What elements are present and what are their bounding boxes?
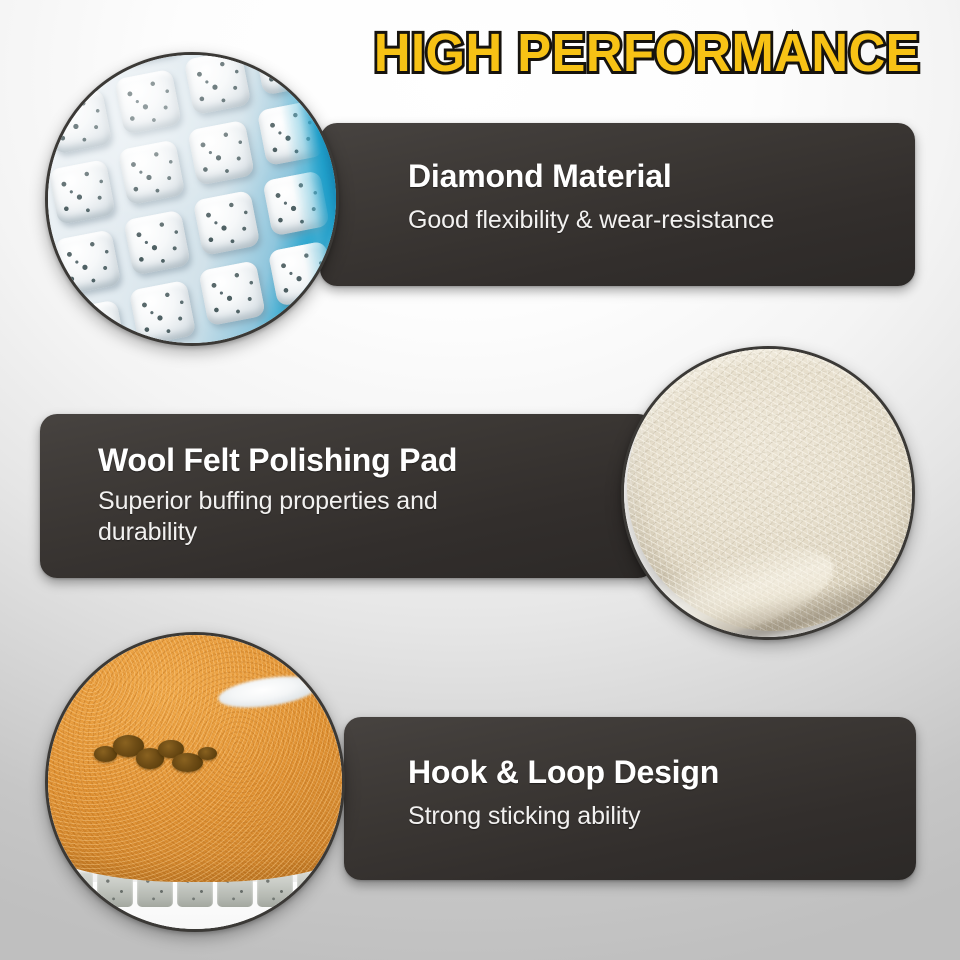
feature-subtitle: Good flexibility & wear-resistance: [408, 205, 878, 236]
hook-loop-velcro-backing-photo: [45, 632, 345, 932]
page-title: HIGH PERFORMANCE: [374, 25, 920, 81]
headline-banner: HIGH PERFORMANCE: [410, 18, 920, 88]
product-feature-infographic: HIGH PERFORMANCE Diamond Material Good f…: [0, 0, 960, 960]
card-content: Diamond Material Good flexibility & wear…: [320, 123, 915, 286]
velcro-hook-cluster: [91, 732, 232, 773]
feature-subtitle: Strong sticking ability: [408, 801, 838, 832]
photo-sheen: [48, 55, 336, 343]
feature-card-wool-felt-polishing-pad: Wool Felt Polishing Pad Superior buffing…: [40, 414, 655, 578]
photo-surface: [48, 55, 336, 343]
wool-felt-disc-photo: [621, 346, 915, 640]
card-content: Wool Felt Polishing Pad Superior buffing…: [40, 414, 655, 578]
feature-title: Hook & Loop Design: [408, 755, 719, 789]
feature-card-hook-and-loop-design: Hook & Loop Design Strong sticking abili…: [344, 717, 916, 880]
photo-surface: [624, 349, 912, 637]
card-content: Hook & Loop Design Strong sticking abili…: [344, 717, 916, 880]
feature-subtitle: Superior buffing properties and durabili…: [98, 486, 528, 548]
photo-surface: [48, 635, 342, 929]
feature-title: Diamond Material: [408, 159, 672, 193]
feature-title: Wool Felt Polishing Pad: [98, 443, 457, 477]
feature-card-diamond-material: Diamond Material Good flexibility & wear…: [320, 123, 915, 286]
orange-velcro-surface: [45, 632, 345, 882]
diamond-segments-closeup-photo: [45, 52, 339, 346]
